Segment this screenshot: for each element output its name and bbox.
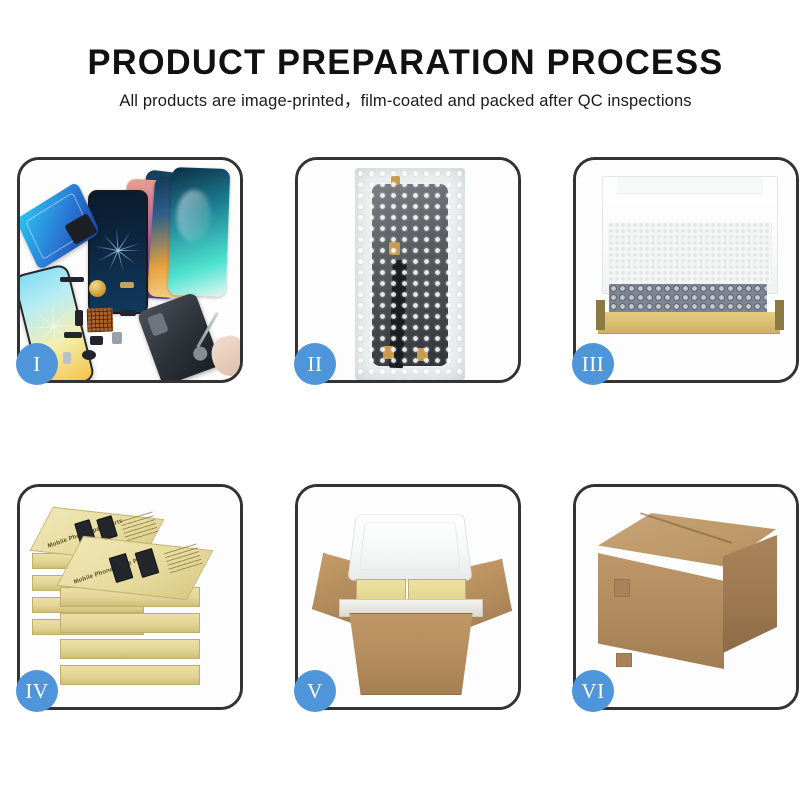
kraft-box-layer [60,639,200,659]
small-part-icon [90,336,103,345]
panel-5-image [298,487,518,707]
bubble-wrap-bag-icon [355,168,465,380]
small-part-icon [112,332,122,344]
kraft-box-layer [60,613,200,633]
bubble-wrap-scene [298,160,518,380]
step-badge-6: VI [572,670,614,712]
panel-1-image [20,160,240,380]
panel-4-image: Mobile Phone Spare Parts Mobile Phone Sp… [20,487,240,707]
small-part-icon [63,352,71,364]
phone-back-housing-icon [137,292,222,380]
process-step-grid: I II [17,157,794,737]
process-step-panel-2[interactable]: II [295,157,521,383]
step-badge-3: III [572,343,614,385]
camera-module-icon [82,350,96,360]
earpiece-chip-icon [60,277,84,282]
step-badge-1: I [16,343,58,385]
page-subtitle: All products are image-printed，film-coat… [0,90,811,112]
phone-parts-scene [20,160,240,380]
kraft-box-layer [60,665,200,685]
tray-side-right-icon [775,300,784,330]
connector-gold-icon [389,242,400,255]
sealed-carton-scene [576,487,796,707]
product-preparation-process-infographic: PRODUCT PREPARATION PROCESS All products… [0,0,811,811]
panel-2-image [298,160,518,380]
step-badge-4: IV [16,670,58,712]
connector-gold-icon [417,348,428,361]
speaker-coil-icon [89,280,106,297]
small-part-icon [64,332,82,338]
small-part-icon [75,310,83,326]
carton-tape-patch-icon [614,579,630,597]
process-step-panel-3[interactable]: III [573,157,799,383]
carton-front-face-icon [598,553,724,669]
process-step-panel-5[interactable]: V [295,484,521,710]
flex-cable-icon [120,282,134,288]
stacked-boxes-scene: Mobile Phone Spare Parts Mobile Phone Sp… [20,487,240,707]
process-step-panel-4[interactable]: Mobile Phone Spare Parts Mobile Phone Sp… [17,484,243,710]
logic-board-icon [87,308,114,333]
open-kraft-box-scene [576,160,796,380]
page-title: PRODUCT PREPARATION PROCESS [6,42,805,84]
step-badge-2: II [294,343,336,385]
foam-box-lid-icon [347,514,472,580]
carton-tape-patch-icon [616,653,632,667]
technician-hand-icon [208,333,240,379]
step-badge-5: V [294,670,336,712]
phone-teal-icon [168,167,230,297]
process-step-panel-6[interactable]: VI [573,484,799,710]
header: PRODUCT PREPARATION PROCESS All products… [0,42,811,112]
carton-body-icon [341,613,481,695]
kraft-tray-front-icon [598,312,780,334]
connector-gold-icon [391,176,400,185]
foam-sheet-icon [608,222,772,284]
screen-assembly-icon [372,184,448,366]
connector-gold-icon [383,346,394,359]
process-step-panel-1[interactable]: I [17,157,243,383]
crack-pattern-icon [95,227,141,273]
panel-3-image [576,160,796,380]
tray-side-left-icon [596,300,605,330]
panel-6-image [576,487,796,707]
carton-with-foam-scene [298,487,518,707]
small-part-icon [120,310,136,316]
